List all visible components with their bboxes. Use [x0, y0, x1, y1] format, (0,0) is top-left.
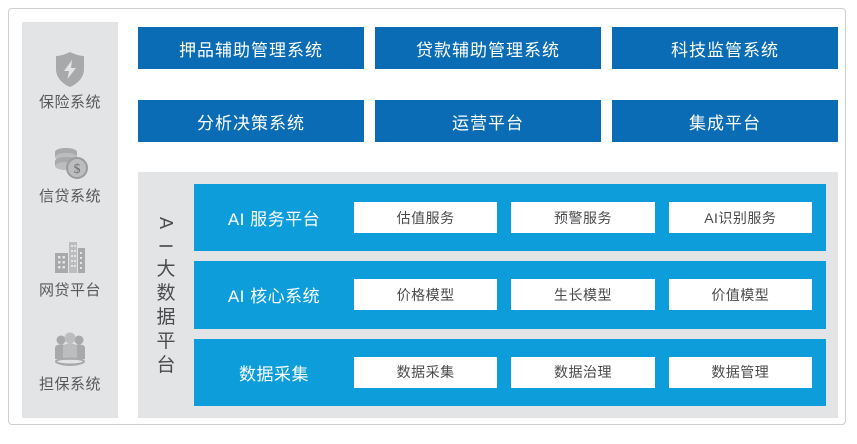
band-items: 价格模型 生长模型 价值模型	[354, 279, 812, 310]
vertical-char: A	[157, 216, 175, 228]
people-group-icon	[48, 329, 92, 373]
platform-bands: AI 服务平台 估值服务 预警服务 AI识别服务 AI 核心系统 价格模型 生长…	[194, 184, 826, 406]
vertical-char: 平	[156, 332, 175, 351]
system-button-tech-supervision[interactable]: 科技监管系统	[612, 27, 838, 69]
vertical-char: 台	[156, 356, 175, 375]
chip-ai-recognition-service[interactable]: AI识别服务	[669, 202, 812, 233]
sidebar: 保险系统 $ 信贷系统	[22, 22, 118, 418]
coins-dollar-icon: $	[48, 141, 92, 185]
sidebar-item-label: 保险系统	[39, 95, 101, 112]
sidebar-item-insurance[interactable]: 保险系统	[22, 47, 118, 112]
sidebar-item-online-lending[interactable]: 网贷平台	[22, 235, 118, 300]
chip-value-model[interactable]: 价值模型	[669, 279, 812, 310]
chip-growth-model[interactable]: 生长模型	[511, 279, 654, 310]
chip-valuation-service[interactable]: 估值服务	[354, 202, 497, 233]
chip-alert-service[interactable]: 预警服务	[511, 202, 654, 233]
sidebar-item-label: 网贷平台	[39, 283, 101, 300]
platform-band-data-collection[interactable]: 数据采集 数据采集 数据治理 数据管理	[194, 339, 826, 406]
band-items: 数据采集 数据治理 数据管理	[354, 357, 812, 388]
vertical-char: 大	[156, 260, 175, 279]
system-button-loan-mgmt[interactable]: 贷款辅助管理系统	[375, 27, 601, 69]
band-label: AI 服务平台	[194, 205, 354, 230]
sidebar-item-guarantee[interactable]: 担保系统	[22, 329, 118, 394]
diagram-canvas: 保险系统 $ 信贷系统	[0, 0, 857, 444]
buildings-icon	[48, 235, 92, 279]
vertical-char: I	[157, 243, 175, 248]
svg-text:$: $	[74, 162, 81, 177]
system-button-collateral-mgmt[interactable]: 押品辅助管理系统	[138, 27, 364, 69]
shield-bolt-icon	[48, 47, 92, 91]
system-button-operations-platform[interactable]: 运营平台	[375, 100, 601, 142]
system-button-analysis-decision[interactable]: 分析决策系统	[138, 100, 364, 142]
platform-vertical-title: A I 大 数 据 平 台	[138, 184, 194, 406]
sidebar-item-label: 信贷系统	[39, 189, 101, 206]
system-button-integration-platform[interactable]: 集成平台	[612, 100, 838, 142]
chip-price-model[interactable]: 价格模型	[354, 279, 497, 310]
platform-band-ai-service[interactable]: AI 服务平台 估值服务 预警服务 AI识别服务	[194, 184, 826, 251]
ai-bigdata-platform-panel: A I 大 数 据 平 台 AI 服务平台 估值服务 预警服务 AI识别服务 A…	[138, 172, 838, 418]
top-systems-row-1: 押品辅助管理系统 贷款辅助管理系统 科技监管系统	[138, 27, 838, 69]
sidebar-item-credit[interactable]: $ 信贷系统	[22, 141, 118, 206]
band-items: 估值服务 预警服务 AI识别服务	[354, 202, 812, 233]
band-label: AI 核心系统	[194, 282, 354, 307]
chip-data-governance[interactable]: 数据治理	[511, 357, 654, 388]
vertical-char: 据	[156, 308, 175, 327]
chip-data-management[interactable]: 数据管理	[669, 357, 812, 388]
sidebar-item-label: 担保系统	[39, 377, 101, 394]
vertical-char: 数	[156, 284, 175, 303]
platform-band-ai-core[interactable]: AI 核心系统 价格模型 生长模型 价值模型	[194, 261, 826, 328]
top-systems-row-2: 分析决策系统 运营平台 集成平台	[138, 100, 838, 142]
chip-data-collection[interactable]: 数据采集	[354, 357, 497, 388]
band-label: 数据采集	[194, 360, 354, 385]
